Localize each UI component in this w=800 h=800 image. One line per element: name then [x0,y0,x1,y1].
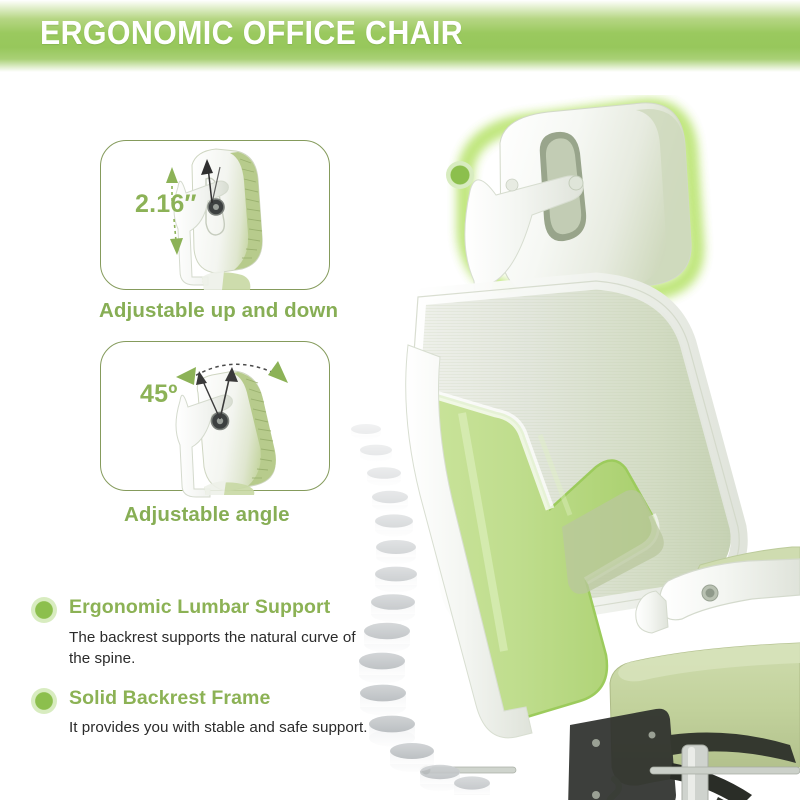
headrest-highlight-dot [446,161,474,189]
height-measure-label: 2.16″ [135,190,197,219]
header-banner: ERGONOMIC OFFICE CHAIR [0,0,800,72]
spine-discs-graphic [330,420,490,795]
callout-caption-height: Adjustable up and down [99,299,338,323]
backrest-top-hint [202,271,250,290]
bullet-icon-backrest-frame [31,688,57,714]
angle-measure-label: 45º [140,380,178,409]
feature-title-backrest-frame: Solid Backrest Frame [69,687,270,710]
bullet-icon-lumbar-support [31,597,57,623]
feature-body-backrest-frame: It provides you with stable and safe sup… [69,718,399,739]
feature-body-lumbar-support: The backrest supports the natural curve … [69,628,369,669]
headrest-pad-tilted [197,371,276,491]
page-title: ERGONOMIC OFFICE CHAIR [40,14,463,52]
headrest-angle-illustration [150,345,325,495]
vertebra-disc-stack [351,424,490,795]
callout-caption-angle: Adjustable angle [124,503,290,527]
feature-title-lumbar-support: Ergonomic Lumbar Support [69,596,330,619]
infographic-page: ERGONOMIC OFFICE CHAIR [0,0,800,800]
